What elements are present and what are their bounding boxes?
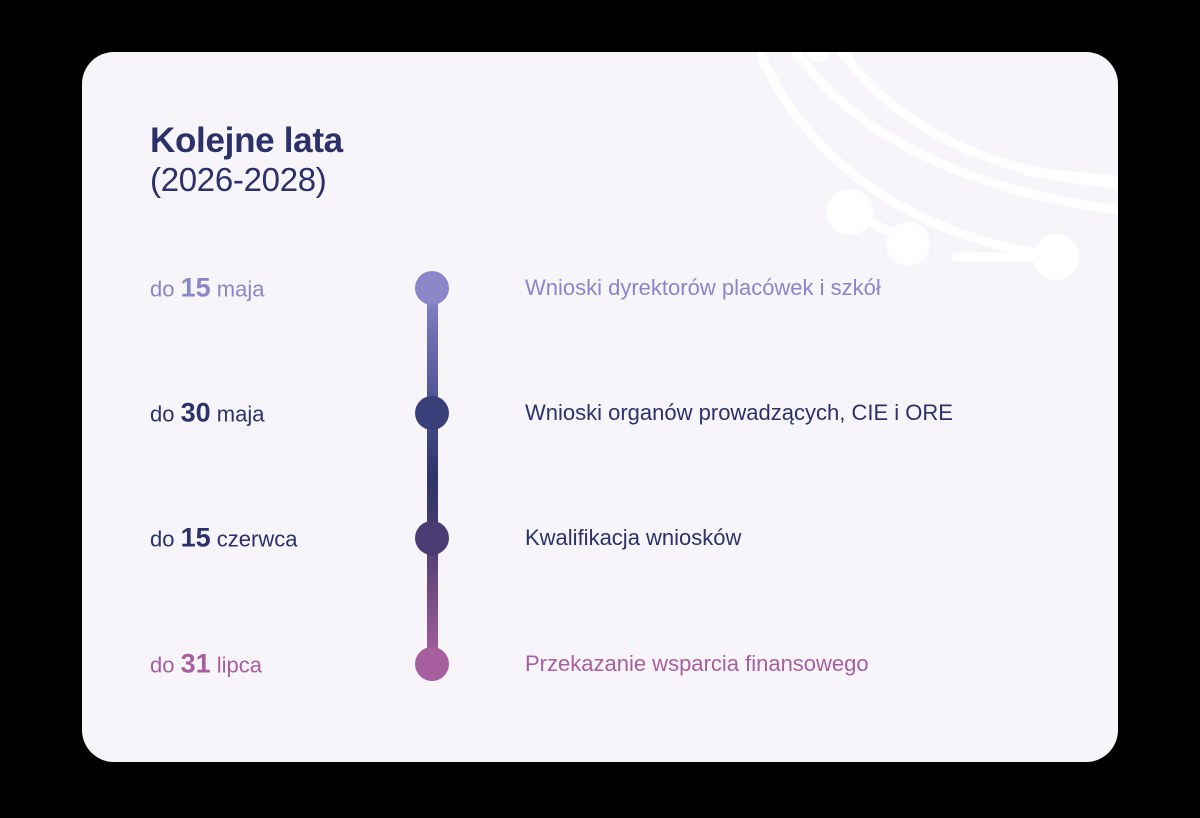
timeline-spine bbox=[427, 288, 438, 664]
timeline-dot bbox=[415, 521, 449, 555]
timeline-date: do 15 maja bbox=[150, 273, 400, 304]
date-prefix: do bbox=[150, 277, 174, 302]
date-month: maja bbox=[217, 277, 265, 302]
timeline-description: Wnioski organów prowadzących, CIE i ORE bbox=[525, 400, 953, 426]
date-prefix: do bbox=[150, 402, 174, 427]
timeline-card: Kolejne lata (2026-2028) do 15 maja Wnio… bbox=[82, 52, 1118, 762]
page-title: Kolejne lata (2026-2028) bbox=[150, 120, 343, 200]
timeline-dot bbox=[415, 647, 449, 681]
timeline-description: Przekazanie wsparcia finansowego bbox=[525, 651, 869, 677]
timeline-date: do 30 maja bbox=[150, 398, 400, 429]
timeline-description: Wnioski dyrektorów placówek i szkół bbox=[525, 275, 881, 301]
date-day: 30 bbox=[181, 398, 211, 428]
date-day: 31 bbox=[181, 649, 211, 679]
date-month: czerwca bbox=[217, 527, 298, 552]
timeline: do 15 maja Wnioski dyrektorów placówek i… bbox=[82, 244, 1118, 714]
timeline-description: Kwalifikacja wniosków bbox=[525, 525, 741, 551]
date-prefix: do bbox=[150, 527, 174, 552]
date-day: 15 bbox=[181, 523, 211, 553]
date-month: maja bbox=[217, 402, 265, 427]
timeline-dot bbox=[415, 271, 449, 305]
timeline-dot bbox=[415, 396, 449, 430]
timeline-date: do 31 lipca bbox=[150, 649, 400, 680]
title-main: Kolejne lata bbox=[150, 120, 343, 161]
date-prefix: do bbox=[150, 653, 174, 678]
date-month: lipca bbox=[217, 653, 262, 678]
timeline-date: do 15 czerwca bbox=[150, 523, 400, 554]
title-subtitle: (2026-2028) bbox=[150, 161, 343, 200]
date-day: 15 bbox=[181, 273, 211, 303]
